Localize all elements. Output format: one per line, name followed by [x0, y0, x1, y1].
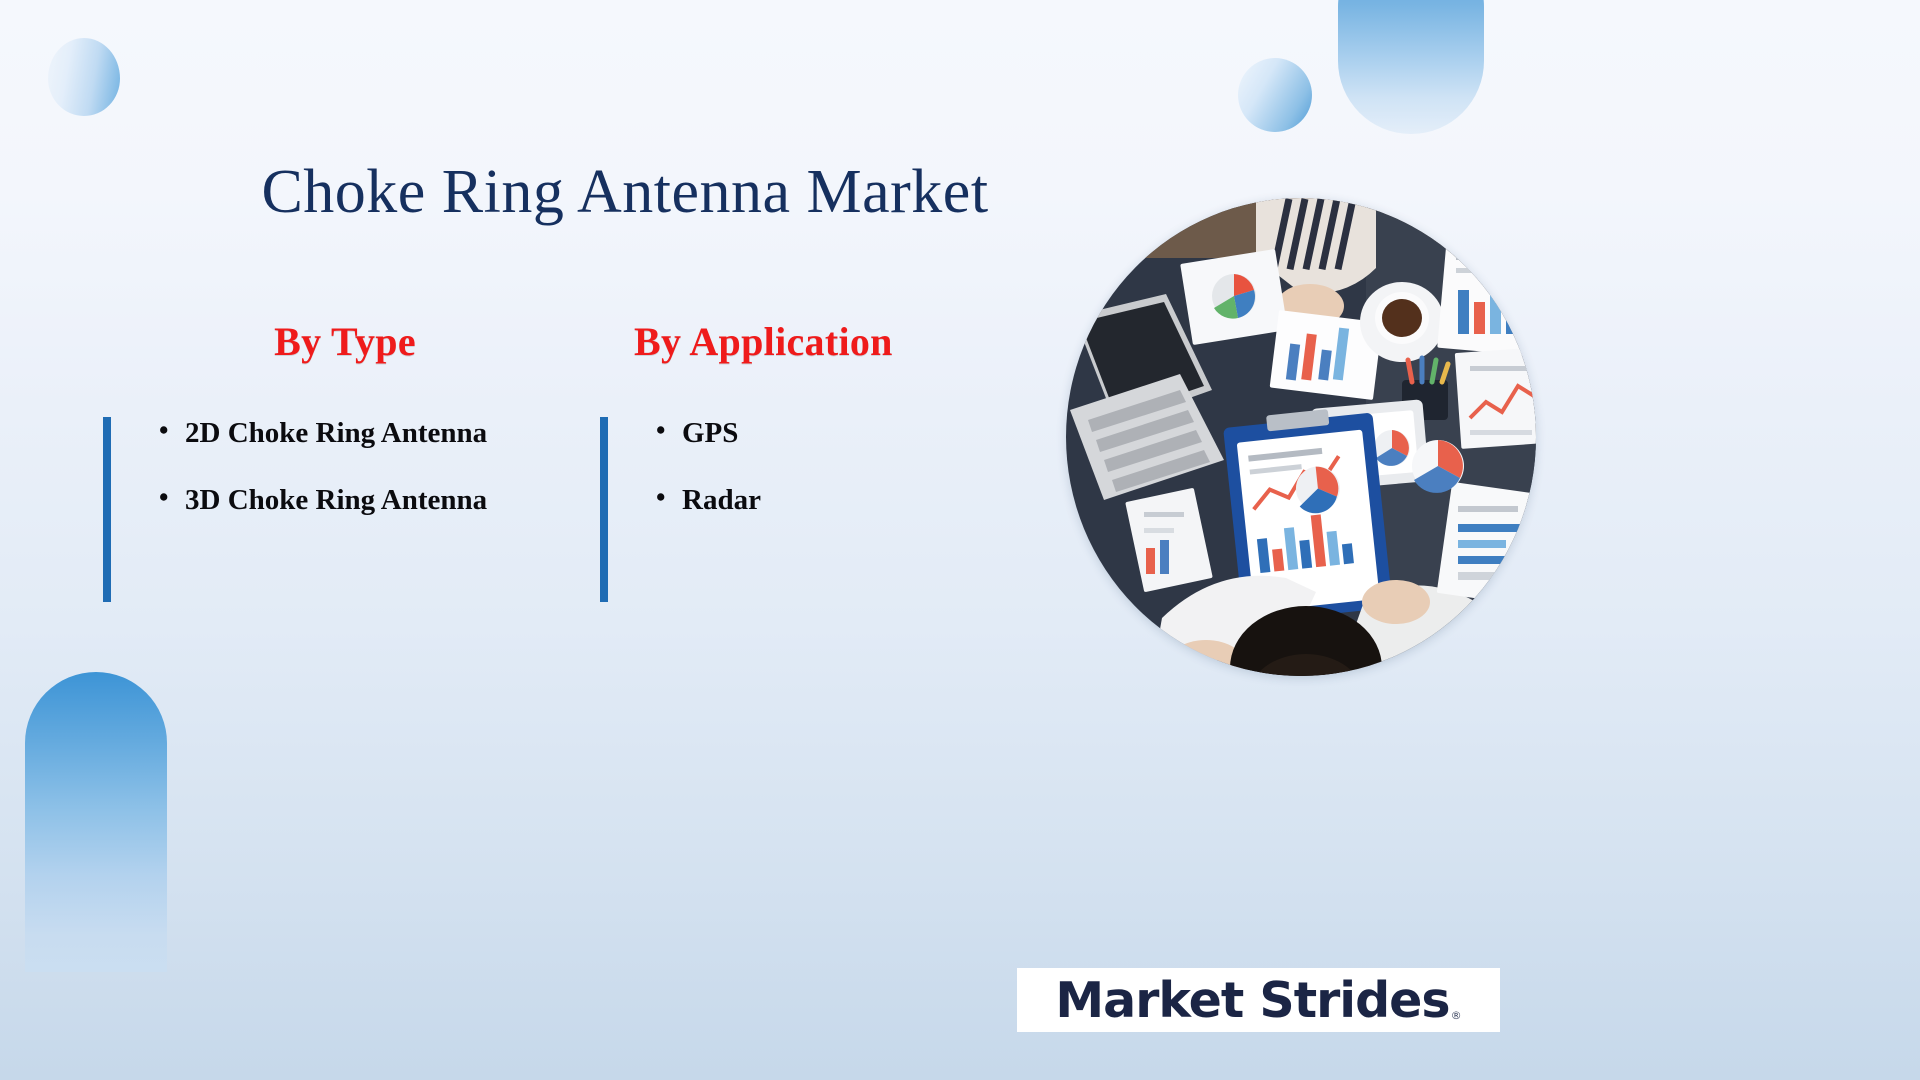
decorative-arch-bottom-left-icon: [25, 672, 167, 972]
decorative-arch-top-right-icon: [1338, 0, 1484, 134]
brand-logo-text: Market Strides: [1055, 972, 1449, 1029]
list-item: Radar: [656, 484, 1062, 517]
brand-logo: Market Strides ®: [1017, 968, 1500, 1032]
hero-photo: [1066, 198, 1536, 676]
accent-bar-by-type: [103, 417, 111, 602]
list-item: 2D Choke Ring Antenna: [159, 417, 595, 450]
list-item: GPS: [656, 417, 1062, 450]
decorative-circle-top-right-icon: [1238, 58, 1312, 132]
column-heading-by-application: By Application: [592, 318, 1062, 365]
by-application-list: GPS Radar: [628, 417, 1062, 517]
registered-trademark-icon: ®: [1451, 1009, 1462, 1022]
segment-column-by-application: By Application GPS Radar: [592, 318, 1062, 602]
by-type-list: 2D Choke Ring Antenna 3D Choke Ring Ante…: [131, 417, 595, 517]
by-type-list-wrapper: 2D Choke Ring Antenna 3D Choke Ring Ante…: [95, 417, 595, 602]
segment-column-by-type: By Type 2D Choke Ring Antenna 3D Choke R…: [95, 318, 595, 602]
accent-bar-by-application: [600, 417, 608, 602]
by-application-list-wrapper: GPS Radar: [592, 417, 1062, 602]
decorative-circle-top-left-icon: [48, 38, 120, 116]
page-title: Choke Ring Antenna Market: [0, 158, 1250, 226]
slide-canvas: Choke Ring Antenna Market By Type 2D Cho…: [0, 0, 1920, 1080]
hero-photo-illustration: [1066, 198, 1536, 676]
column-heading-by-type: By Type: [95, 318, 595, 365]
list-item: 3D Choke Ring Antenna: [159, 484, 595, 517]
